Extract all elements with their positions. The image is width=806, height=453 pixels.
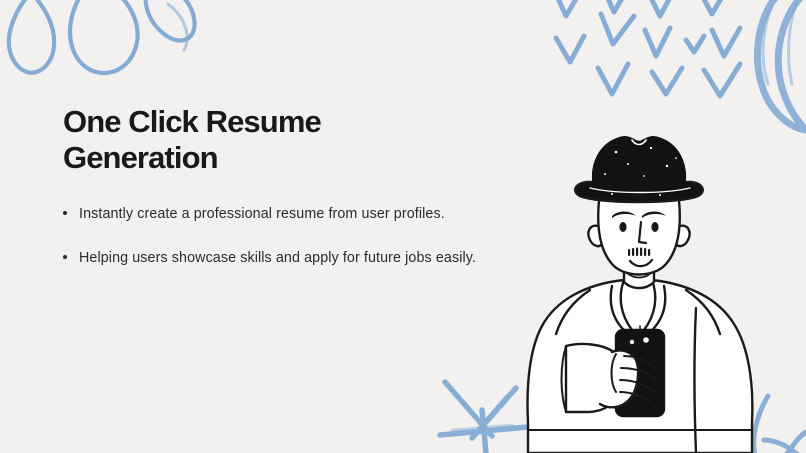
starburst-bottom-center: [440, 382, 528, 453]
slide-canvas: One Click Resume Generation Instantly cr…: [0, 0, 806, 453]
bullet-dot-icon: [63, 255, 67, 259]
person-with-hat-holding-phone-illustration: [520, 130, 806, 453]
bullet-dot-icon: [63, 211, 67, 215]
page-title: One Click Resume Generation: [63, 104, 523, 177]
text-column: One Click Resume Generation Instantly cr…: [63, 104, 523, 270]
list-item: Instantly create a professional resume f…: [63, 203, 523, 226]
cursive-loop-scribble-top-left: [9, 0, 195, 73]
checkmark-cluster-top-right: [556, 0, 740, 96]
list-item: Helping users showcase skills and apply …: [63, 247, 523, 270]
textured-ring-right-edge: [757, 0, 806, 130]
cursive-loop-scribble-top-left-inner: [168, 4, 187, 50]
list-item-label: Helping users showcase skills and apply …: [79, 250, 476, 266]
starburst-bottom-center-texture: [452, 390, 512, 430]
hat: [575, 137, 703, 202]
textured-ring-right-edge-strokes: [763, 4, 796, 84]
bullet-list: Instantly create a professional resume f…: [63, 203, 523, 270]
list-item-label: Instantly create a professional resume f…: [79, 206, 445, 222]
